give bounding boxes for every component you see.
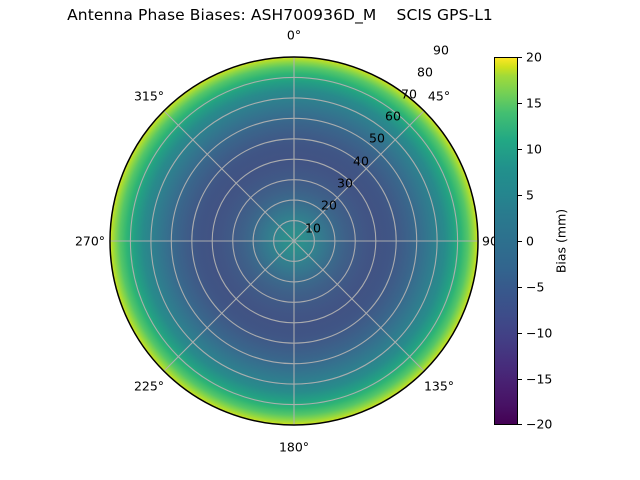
r-tick-30: 30	[337, 176, 353, 191]
r-tick-10: 10	[305, 221, 321, 236]
colorbar-tick-label-m20: −20	[526, 417, 552, 432]
theta-tick-270: 270°	[75, 234, 105, 249]
r-tick-40: 40	[353, 154, 369, 169]
colorbar-tick-label-5: 5	[526, 188, 534, 203]
polar-axes[interactable]: 0° 45° 90 135° 180° 225° 270° 315° 10 20…	[110, 57, 478, 425]
theta-tick-315: 315°	[134, 89, 164, 104]
theta-tick-0: 0°	[287, 28, 301, 43]
colorbar-tick-mark-10	[518, 149, 522, 150]
theta-tick-135: 135°	[424, 379, 454, 394]
theta-tick-45: 45°	[428, 89, 450, 104]
r-tick-90: 90	[433, 43, 449, 58]
colorbar-tick-mark-m20	[518, 424, 522, 425]
colorbar-gradient	[494, 57, 518, 425]
colorbar-tick-label-10: 10	[526, 142, 542, 157]
theta-tick-225: 225°	[134, 379, 164, 394]
colorbar-tick-mark-15	[518, 103, 522, 104]
page-title: Antenna Phase Biases: ASH700936D_M SCIS …	[0, 6, 560, 24]
colorbar-tick-mark-0	[518, 241, 522, 242]
colorbar-tick-label-m15: −15	[526, 372, 552, 387]
polar-gridlines	[110, 57, 478, 425]
colorbar-tick-mark-m10	[518, 333, 522, 334]
colorbar-tick-mark-m15	[518, 379, 522, 380]
theta-tick-180: 180°	[279, 440, 309, 455]
colorbar-tick-label-m10: −10	[526, 326, 552, 341]
colorbar-tick-label-15: 15	[526, 96, 542, 111]
colorbar[interactable]: 20 15 10 5 0 −5 −10 −15 −20	[494, 57, 518, 425]
figure-canvas: Antenna Phase Biases: ASH700936D_M SCIS …	[0, 0, 640, 480]
colorbar-tick-label-m5: −5	[526, 280, 544, 295]
polar-plot-surface[interactable]	[110, 57, 478, 425]
r-tick-70: 70	[401, 87, 417, 102]
colorbar-tick-mark-5	[518, 195, 522, 196]
colorbar-tick-label-20: 20	[526, 50, 542, 65]
r-tick-50: 50	[369, 131, 385, 146]
r-tick-80: 80	[417, 65, 433, 80]
r-tick-20: 20	[321, 198, 337, 213]
colorbar-tick-label-0: 0	[526, 234, 534, 249]
r-tick-60: 60	[385, 109, 401, 124]
colorbar-tick-mark-m5	[518, 287, 522, 288]
colorbar-axis-label: Bias (mm)	[554, 209, 569, 273]
colorbar-tick-mark-20	[518, 57, 522, 58]
